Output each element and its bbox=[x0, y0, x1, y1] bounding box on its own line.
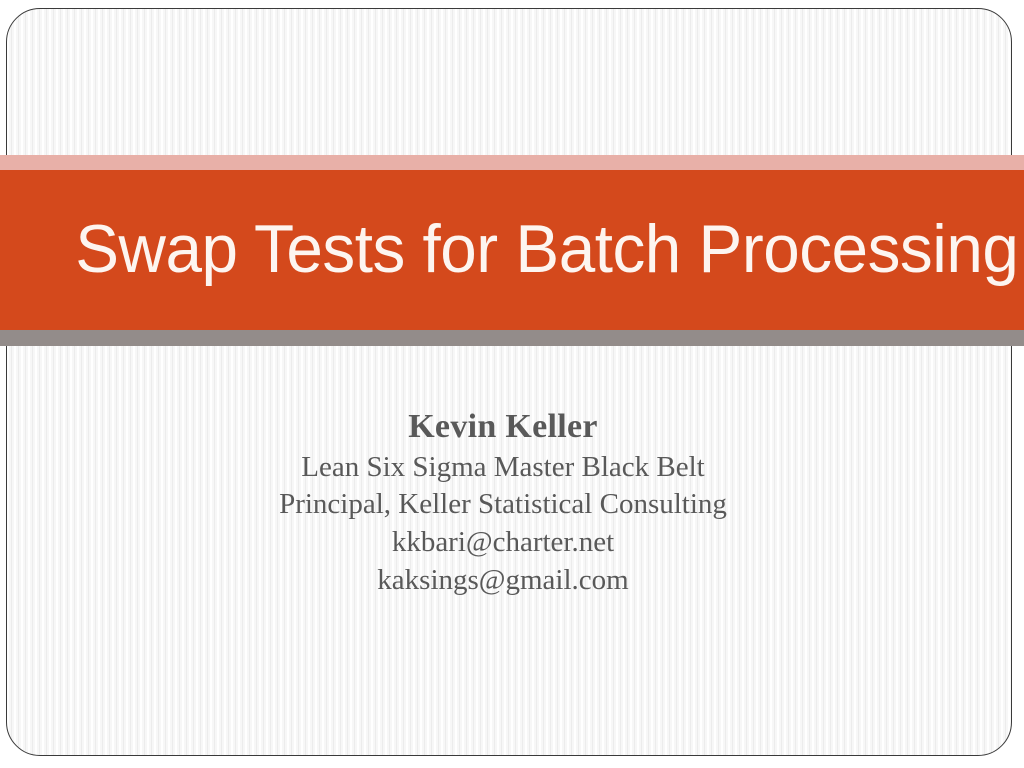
presentation-slide: Swap Tests for Batch Processing Kevin Ke… bbox=[0, 0, 1024, 768]
subtitle-block: Kevin Keller Lean Six Sigma Master Black… bbox=[0, 405, 1006, 599]
presenter-email-primary: kkbari@charter.net bbox=[0, 524, 1006, 562]
banner-main: Swap Tests for Batch Processing bbox=[0, 170, 1024, 330]
title-banner: Swap Tests for Batch Processing bbox=[0, 155, 1024, 346]
presenter-name: Kevin Keller bbox=[0, 405, 1006, 449]
presenter-credential: Lean Six Sigma Master Black Belt bbox=[0, 449, 1006, 487]
banner-accent-bottom bbox=[0, 330, 1024, 346]
page-title: Swap Tests for Batch Processing bbox=[0, 214, 1018, 285]
presenter-role: Principal, Keller Statistical Consulting bbox=[0, 486, 1006, 524]
banner-accent-top bbox=[0, 155, 1024, 170]
presenter-email-secondary: kaksings@gmail.com bbox=[0, 562, 1006, 600]
slide-frame bbox=[6, 8, 1012, 756]
